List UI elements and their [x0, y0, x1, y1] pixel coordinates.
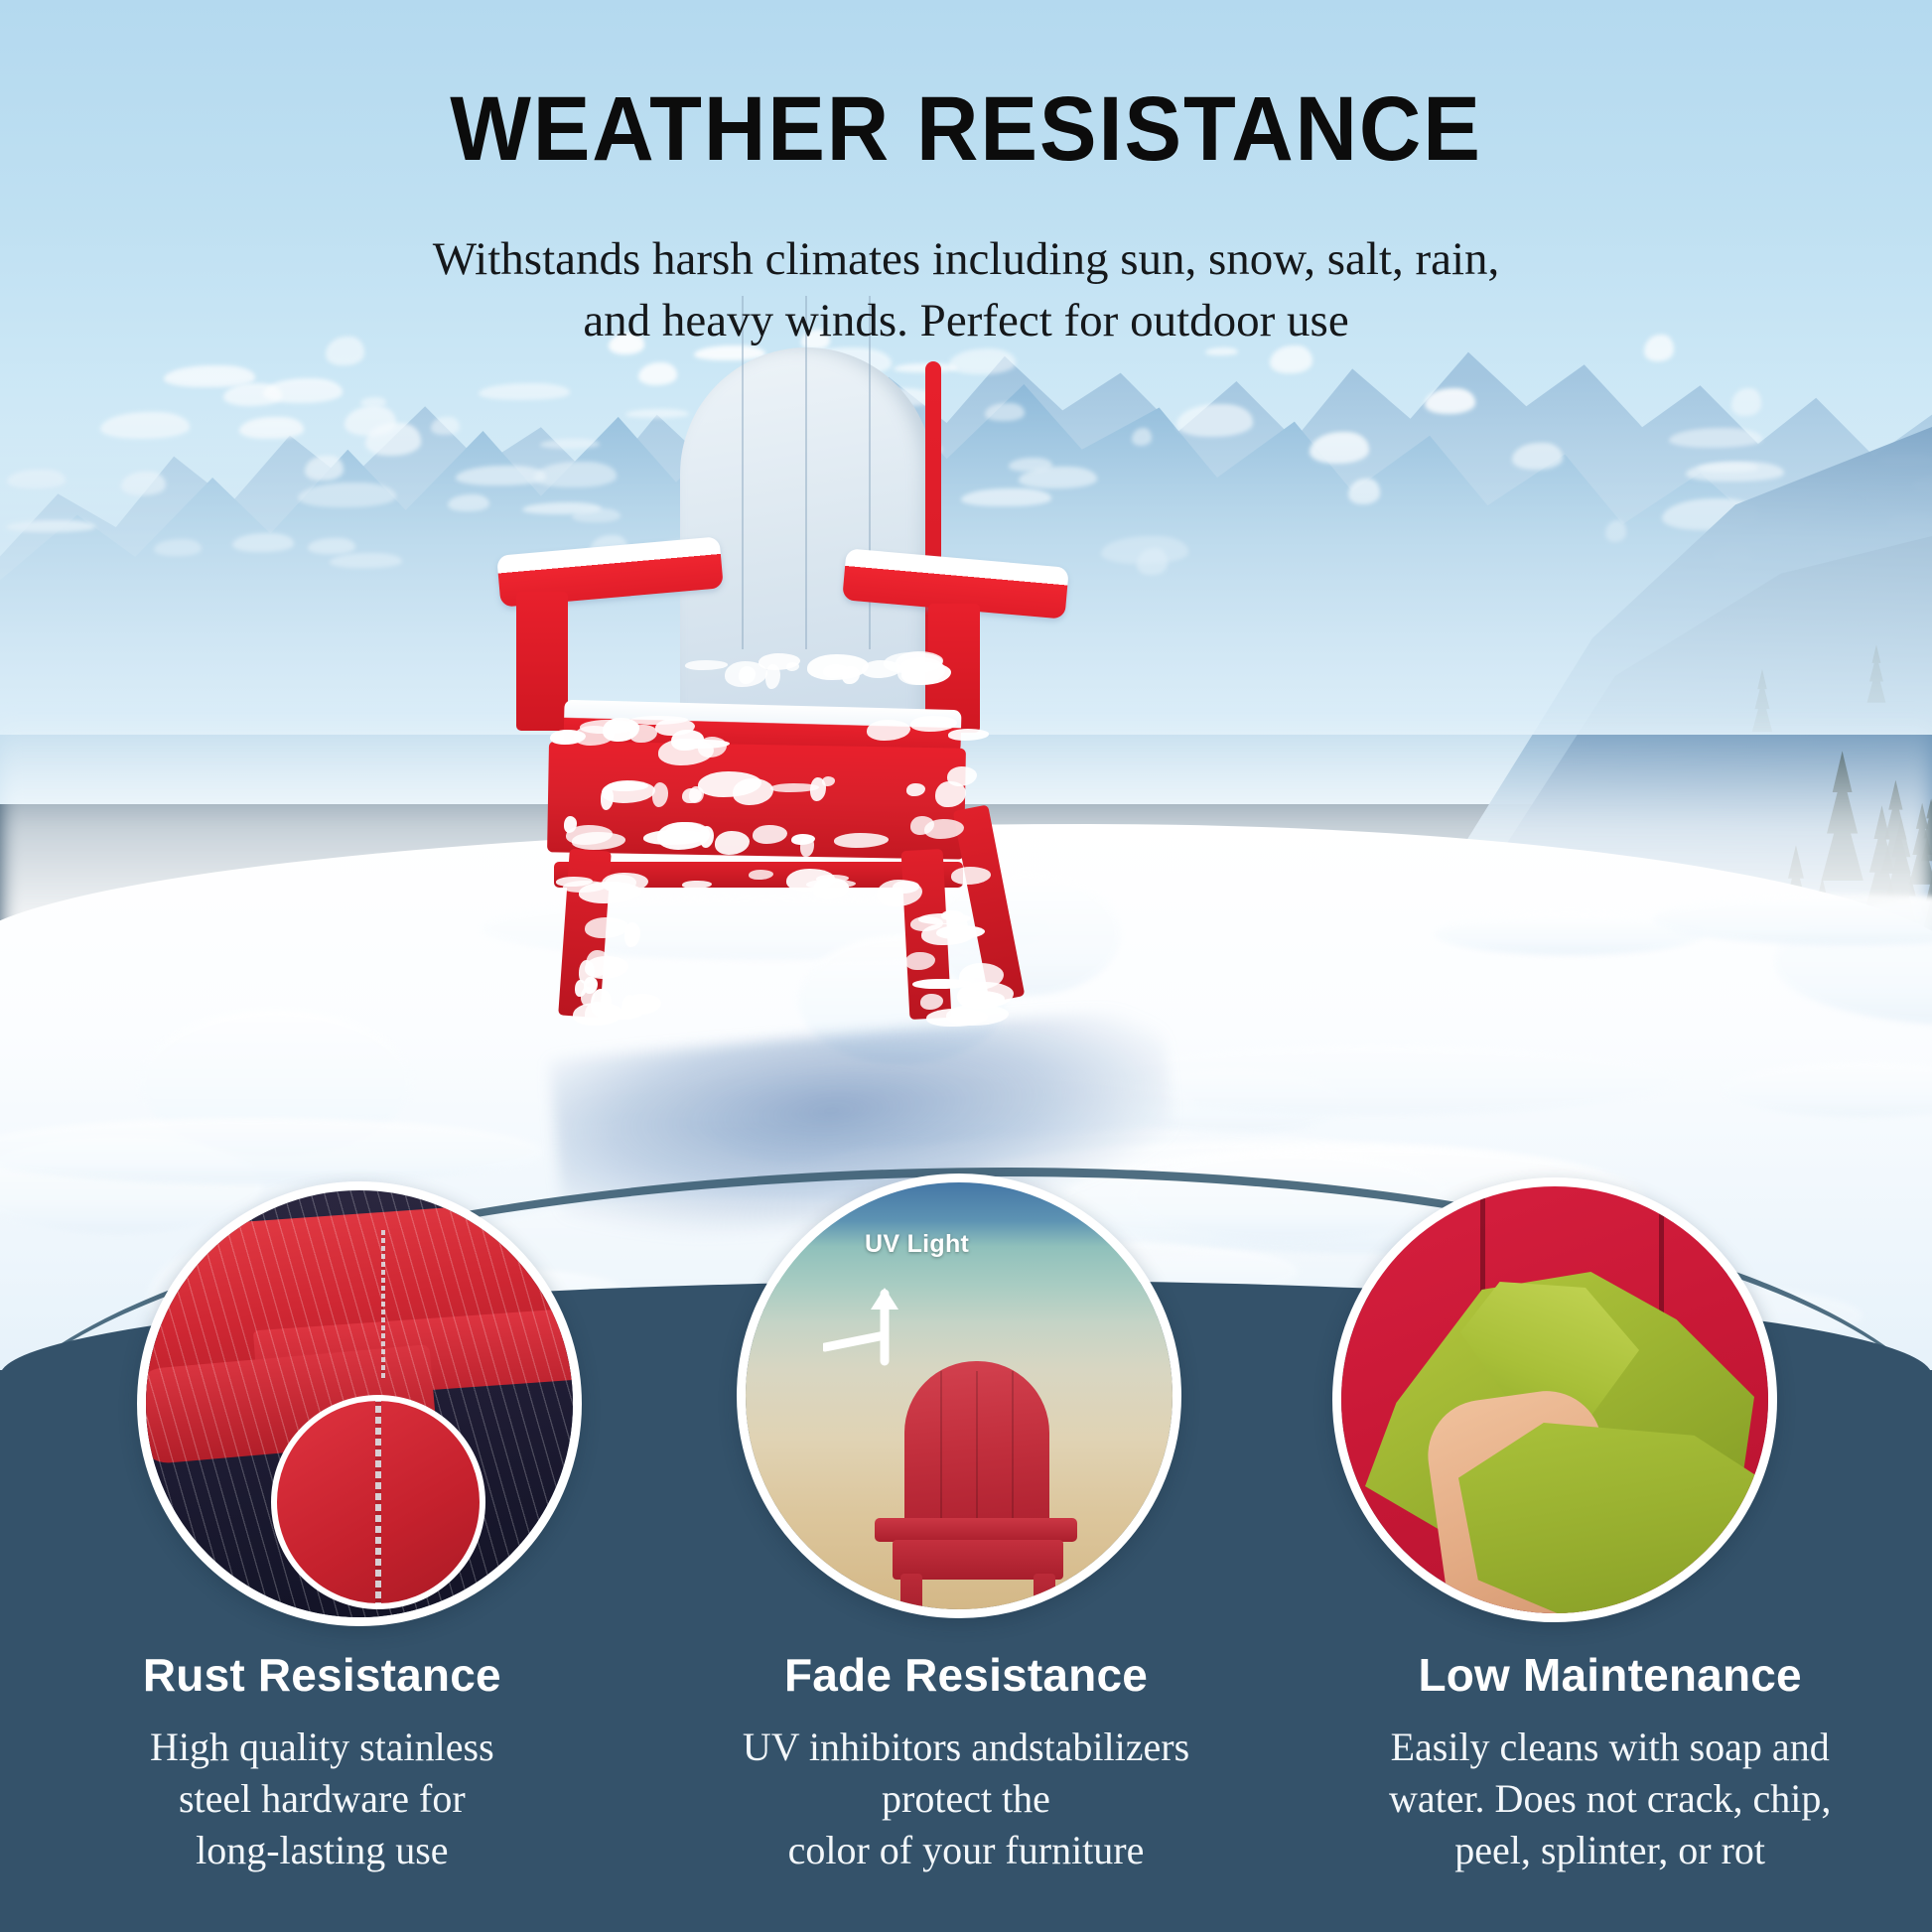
feature-list: Rust Resistance High quality stainless s… [0, 1648, 1932, 1876]
feature-body-line: steel hardware for [46, 1773, 599, 1825]
feature-body-line: long-lasting use [46, 1825, 599, 1876]
low-maintenance-photo [1341, 1186, 1768, 1613]
feature-image-rust-resistance[interactable] [137, 1181, 582, 1626]
stainless-chain-icon [375, 1395, 381, 1609]
feature-body-line: protect the [690, 1773, 1243, 1825]
feature-body-low-maintenance: Easily cleans with soap and water. Does … [1333, 1722, 1886, 1876]
feature-body-line: peel, splinter, or rot [1333, 1825, 1886, 1876]
rust-resistance-photo [146, 1190, 573, 1617]
feature-fade-resistance: Fade Resistance UV inhibitors andstabili… [644, 1648, 1289, 1876]
feature-body-line: Easily cleans with soap and [1333, 1722, 1886, 1773]
infographic-canvas: UV Light [0, 0, 1932, 1932]
feature-low-maintenance: Low Maintenance Easily cleans with soap … [1288, 1648, 1932, 1876]
feature-rust-resistance: Rust Resistance High quality stainless s… [0, 1648, 644, 1876]
subtitle-line-2: and heavy winds. Perfect for outdoor use [0, 290, 1932, 351]
subtitle-line-1: Withstands harsh climates including sun,… [0, 228, 1932, 290]
snow-patch [770, 783, 819, 792]
feature-body-line: High quality stainless [46, 1722, 599, 1773]
feature-body-fade-resistance: UV inhibitors andstabilizers protect the… [690, 1722, 1243, 1876]
beach-chair [871, 1361, 1085, 1618]
snow-patch [682, 881, 712, 890]
feature-body-line: UV inhibitors andstabilizers [690, 1722, 1243, 1773]
feature-title-rust-resistance: Rust Resistance [46, 1648, 599, 1702]
chair-arm-post-left [516, 592, 568, 731]
snow-patch [948, 729, 990, 740]
page-subtitle: Withstands harsh climates including sun,… [0, 228, 1932, 351]
page-title: WEATHER RESISTANCE [58, 77, 1873, 182]
feature-body-line: water. Does not crack, chip, [1333, 1773, 1886, 1825]
fade-resistance-photo: UV Light [746, 1182, 1173, 1609]
feature-image-fade-resistance[interactable]: UV Light [737, 1173, 1181, 1618]
snow-cap [949, 348, 1016, 373]
uv-light-label: UV Light [865, 1230, 969, 1259]
feature-image-low-maintenance[interactable] [1332, 1177, 1777, 1622]
hero-adirondack-chair [477, 417, 1033, 973]
feature-body-line: color of your furniture [690, 1825, 1243, 1876]
feature-title-low-maintenance: Low Maintenance [1333, 1648, 1886, 1702]
snow-patch [585, 917, 628, 938]
snow-patch [905, 952, 935, 970]
feature-title-fade-resistance: Fade Resistance [690, 1648, 1243, 1702]
feature-body-rust-resistance: High quality stainless steel hardware fo… [46, 1722, 599, 1876]
chain-detail-inset [271, 1395, 485, 1609]
chair-backrest [680, 347, 933, 735]
